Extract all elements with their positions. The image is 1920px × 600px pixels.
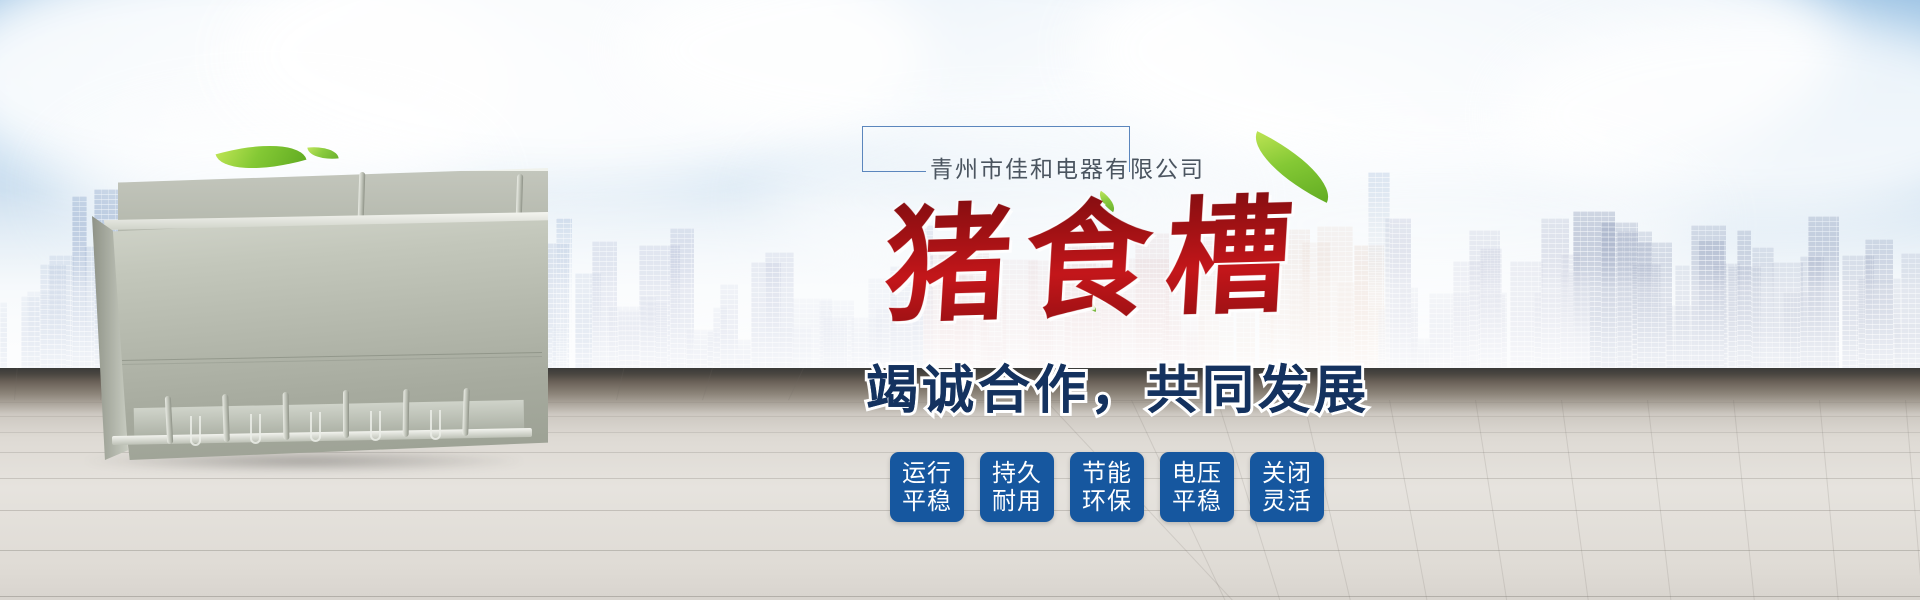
trough-hook bbox=[370, 411, 381, 441]
subtitle: 竭诚合作，共同发展 bbox=[866, 348, 1370, 423]
feature-chip[interactable]: 持久 耐用 bbox=[980, 452, 1054, 522]
trough-hook bbox=[250, 414, 261, 444]
trough-hook bbox=[190, 416, 201, 446]
paving-joint bbox=[1303, 400, 1504, 600]
feature-chip-line1: 持久 bbox=[992, 459, 1042, 487]
paving-joint bbox=[616, 368, 817, 400]
trough-divider-bar bbox=[283, 392, 290, 440]
feature-chip-line1: 运行 bbox=[902, 459, 952, 487]
feature-chip-line2: 灵活 bbox=[1262, 487, 1312, 515]
feature-chip-line1: 关闭 bbox=[1262, 459, 1312, 487]
paving-joint bbox=[1733, 400, 1920, 600]
feature-chip-line2: 平稳 bbox=[902, 487, 952, 515]
feature-chip-line2: 环保 bbox=[1082, 487, 1132, 515]
paving-joint bbox=[530, 368, 731, 400]
trough-divider-bar bbox=[343, 390, 349, 438]
feature-chip[interactable]: 运行 平稳 bbox=[890, 452, 964, 522]
feature-chip-line2: 平稳 bbox=[1172, 487, 1222, 515]
feature-chip[interactable]: 电压 平稳 bbox=[1160, 452, 1234, 522]
promo-banner: 青州市佳和电器有限公司 猪食槽 竭诚合作，共同发展 竭诚合作，共同发展 运行 平… bbox=[0, 0, 1920, 600]
paving-joint bbox=[1647, 400, 1848, 600]
feature-chip[interactable]: 关闭 灵活 bbox=[1250, 452, 1324, 522]
trough-divider-bar bbox=[403, 389, 410, 437]
paving-joint bbox=[1819, 400, 1920, 600]
trough-hook bbox=[430, 410, 441, 440]
page-title: 猪食槽 bbox=[880, 154, 1312, 348]
paving-joint bbox=[0, 550, 1920, 551]
paving-joint bbox=[0, 596, 1920, 597]
product-image-pig-feeding-trough bbox=[78, 168, 548, 458]
feature-chip-line1: 节能 bbox=[1082, 459, 1132, 487]
paving-joint bbox=[1561, 400, 1762, 600]
paving-joint bbox=[0, 368, 43, 400]
paving-joint bbox=[1905, 400, 1920, 600]
feature-chip[interactable]: 节能 环保 bbox=[1070, 452, 1144, 522]
feature-chip-line1: 电压 bbox=[1172, 459, 1222, 487]
feature-chip-line2: 耐用 bbox=[992, 487, 1042, 515]
feature-chip-list: 运行 平稳 持久 耐用 节能 环保 电压 平稳 关闭 灵活 bbox=[890, 452, 1324, 522]
trough-hook bbox=[310, 412, 321, 442]
